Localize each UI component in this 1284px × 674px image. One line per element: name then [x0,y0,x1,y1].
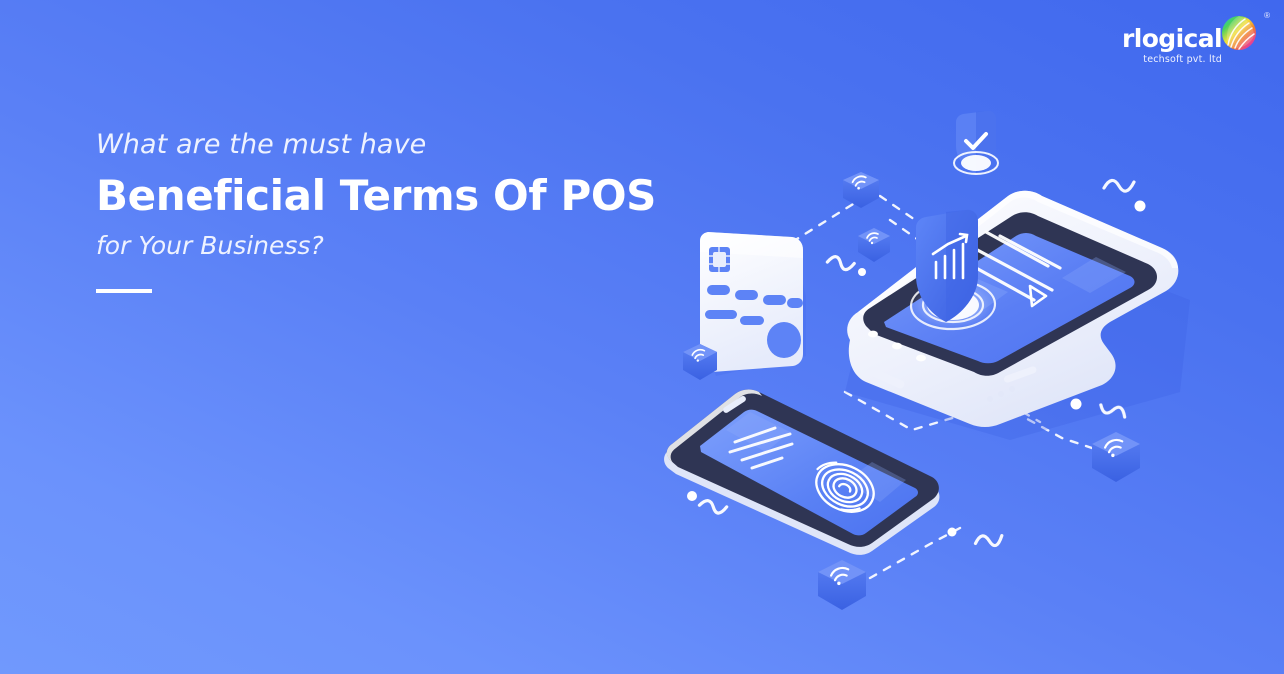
card-logo-circle [767,322,801,358]
brand-logo[interactable]: rlogical techsoft pvt. ltd ® [1122,14,1260,65]
brand-tagline: techsoft pvt. ltd [1143,55,1222,65]
page-title: Beneficial Terms Of POS [96,170,656,221]
headline-subtitle: for Your Business? [96,230,656,261]
checkmark-shield-icon [954,111,998,174]
pos-terminal-device [845,191,1190,440]
trademark-symbol: ® [1264,12,1270,20]
nfc-wifi-cube-icon [858,228,890,262]
headline-eyebrow: What are the must have [96,128,656,162]
nfc-wifi-cube-icon [818,560,866,610]
brand-logo-text: rlogical techsoft pvt. ltd [1122,14,1224,65]
smartphone-fingerprint-device [664,390,940,555]
title-underline-rule [96,289,152,293]
card-chip-icon [709,247,730,272]
headline-block: What are the must have Beneficial Terms … [96,128,656,293]
brand-name: rlogical [1122,26,1222,51]
nfc-wifi-cube-icon [843,172,879,208]
rlogical-leaf-logo-icon: ® [1220,14,1260,54]
promo-banner: What are the must have Beneficial Terms … [0,0,1284,674]
nfc-wifi-cube-icon [1092,432,1140,482]
illustration-area [0,0,1284,674]
